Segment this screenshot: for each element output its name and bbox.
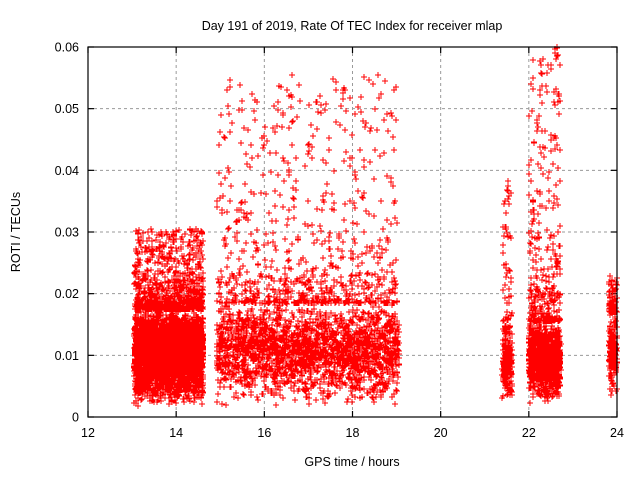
y-tick-label: 0 bbox=[72, 411, 79, 425]
roti-scatter-plot: Day 191 of 2019, Rate Of TEC Index for r… bbox=[0, 0, 640, 480]
x-tick-label: 24 bbox=[610, 426, 624, 440]
y-tick-label: 0.02 bbox=[55, 287, 79, 301]
x-tick-label: 18 bbox=[346, 426, 360, 440]
y-tick-label: 0.04 bbox=[55, 164, 79, 178]
chart-page: Day 191 of 2019, Rate Of TEC Index for r… bbox=[0, 0, 640, 480]
y-tick-label: 0.06 bbox=[55, 41, 79, 55]
x-tick-label: 20 bbox=[434, 426, 448, 440]
x-tick-label: 14 bbox=[169, 426, 183, 440]
x-axis-label: GPS time / hours bbox=[304, 455, 399, 469]
y-tick-label: 0.05 bbox=[55, 102, 79, 116]
y-tick-label: 0.01 bbox=[55, 349, 79, 363]
y-tick-label: 0.03 bbox=[55, 226, 79, 240]
y-axis-label: ROTI / TECUs bbox=[9, 192, 23, 272]
x-tick-label: 12 bbox=[81, 426, 95, 440]
x-tick-label: 16 bbox=[257, 426, 271, 440]
chart-title: Day 191 of 2019, Rate Of TEC Index for r… bbox=[202, 19, 503, 33]
x-tick-label: 22 bbox=[522, 426, 536, 440]
